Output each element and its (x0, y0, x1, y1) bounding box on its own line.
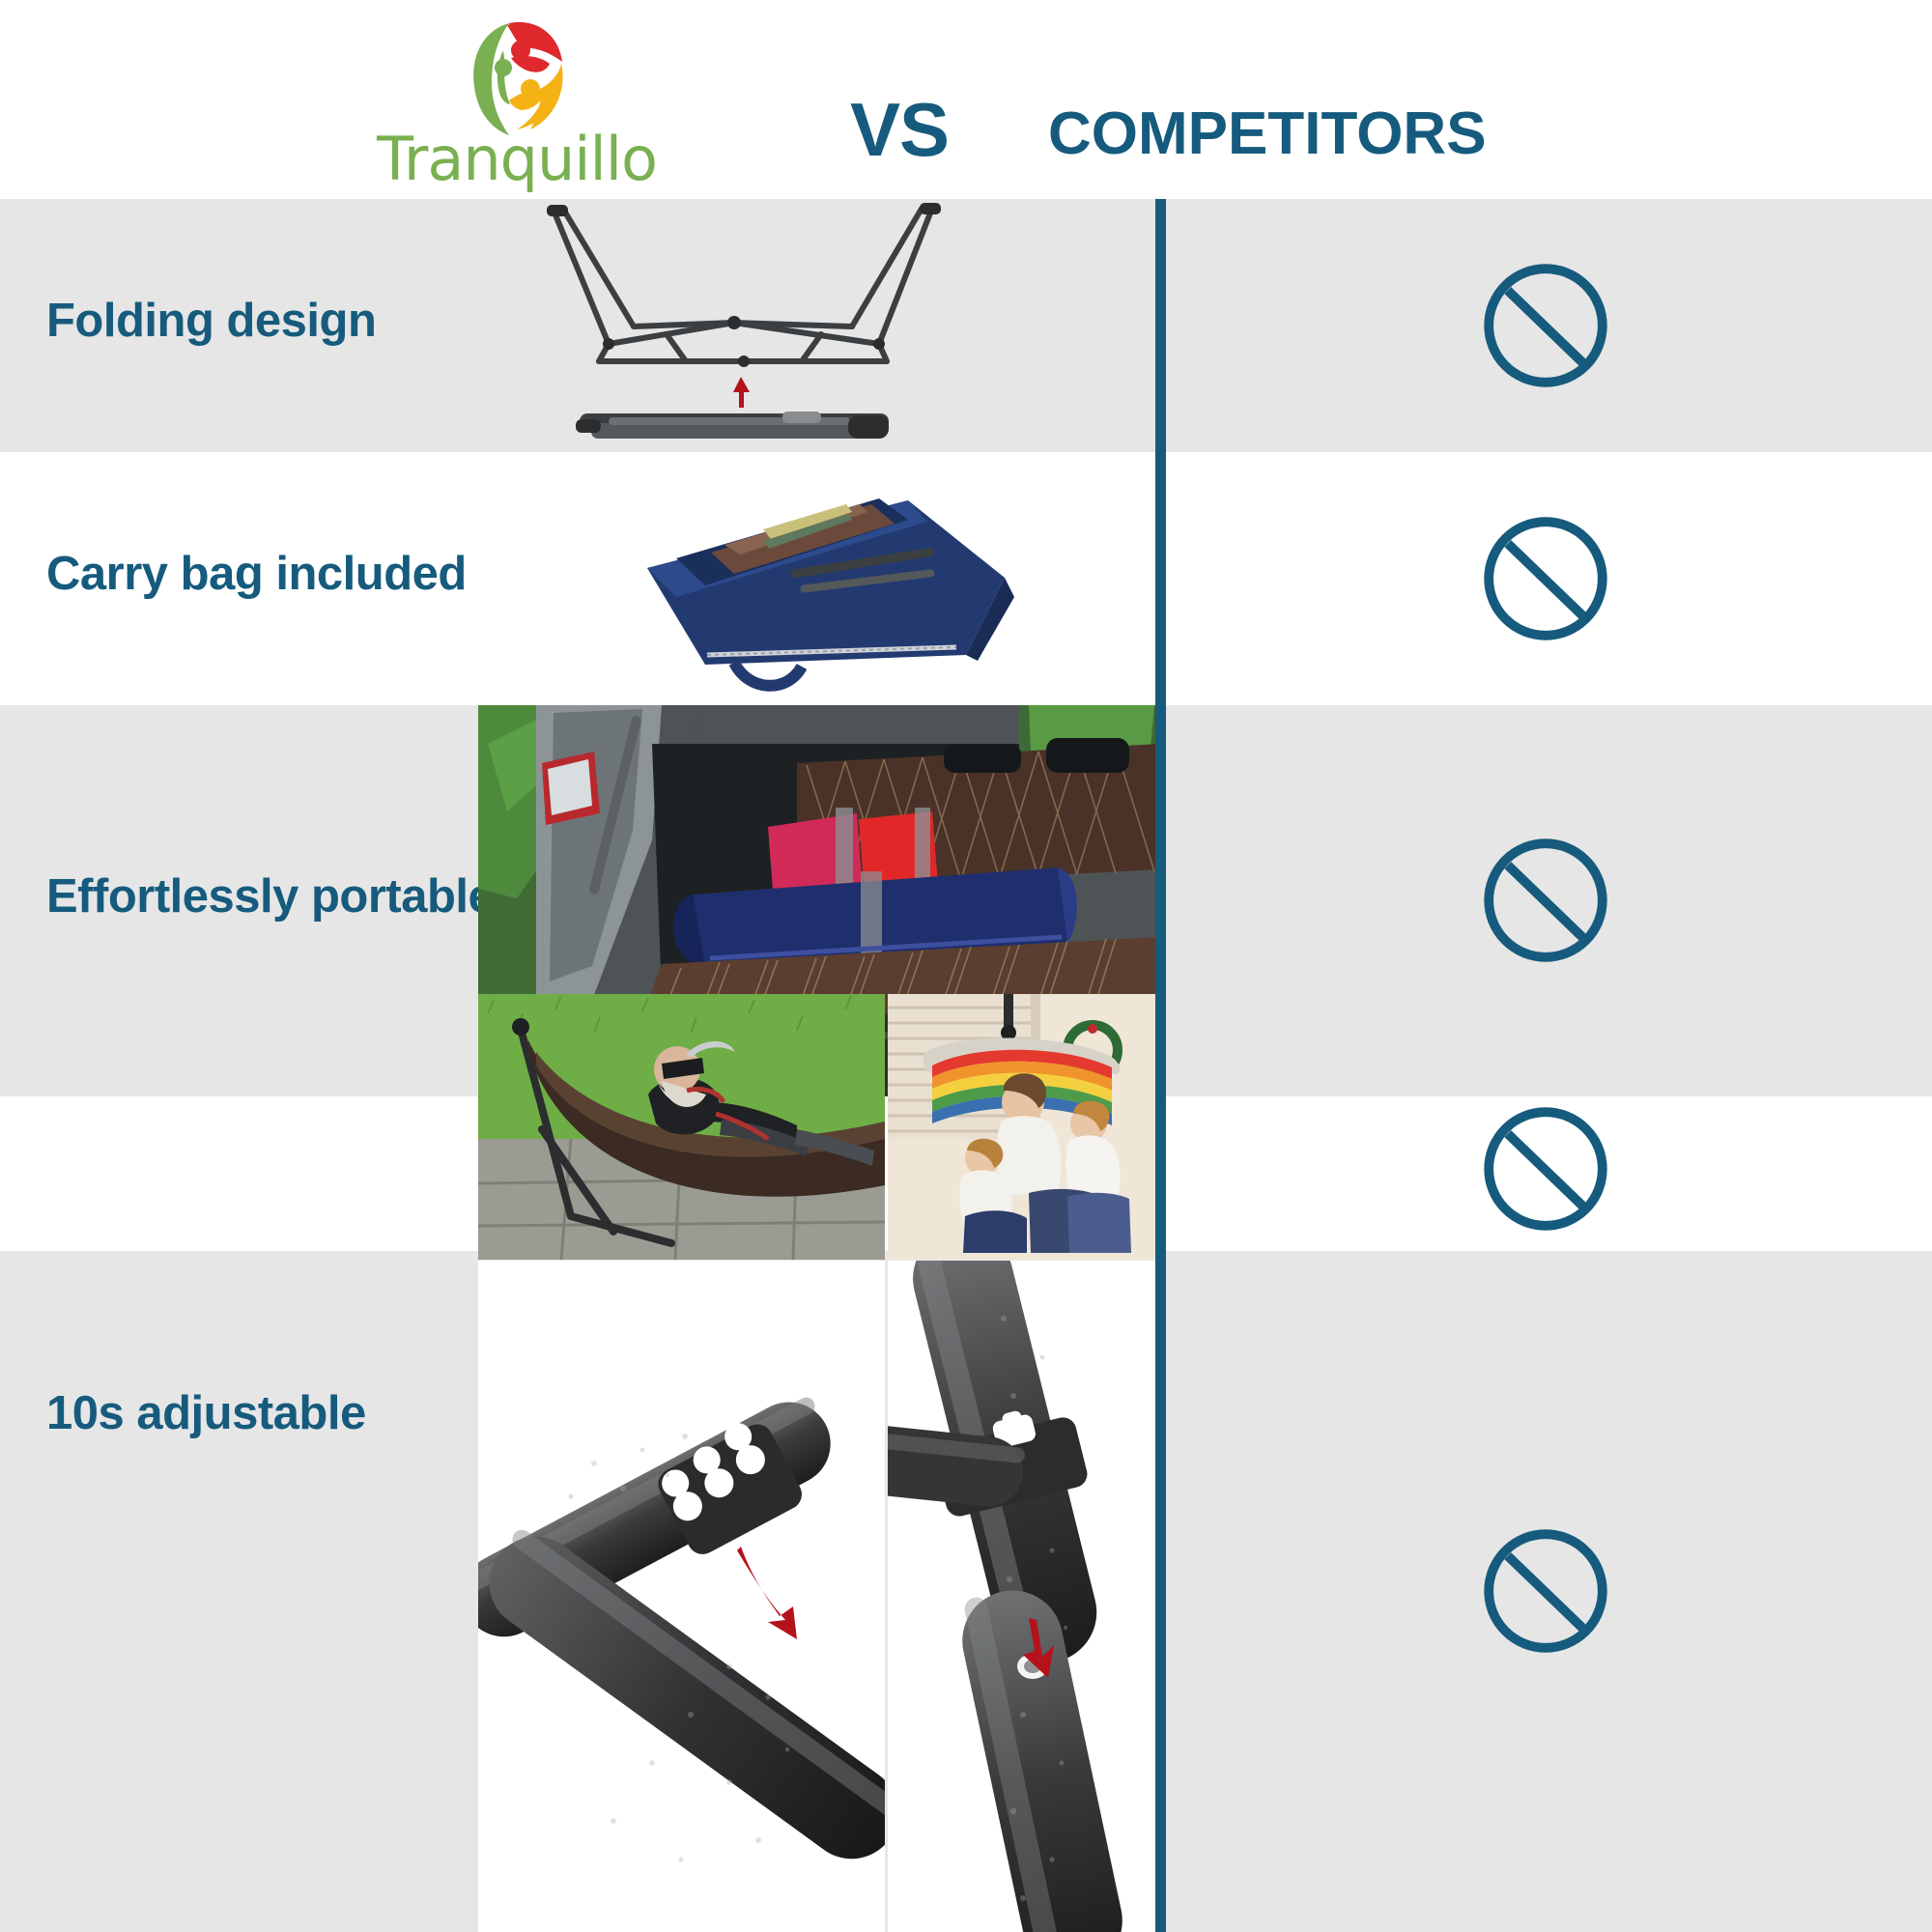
folding-hammock-stand-photo (541, 199, 947, 452)
man-in-hammock-on-lawn-photo (478, 994, 885, 1260)
row-label-folding-design: Folding design (46, 294, 376, 348)
three-figures-circle-logo-icon (449, 8, 584, 143)
competitor-mark-cell (1478, 1523, 1613, 1659)
brand-logo: Tranquillo (357, 8, 676, 201)
table-row: Carry bag included (0, 452, 1932, 705)
competitor-mark-cell (1478, 833, 1613, 968)
row-label-effortlessly-portable: Effortlessly portable (46, 869, 494, 923)
prohibition-icon (1478, 1523, 1613, 1659)
column-divider (1155, 199, 1166, 1932)
prohibition-icon (1478, 258, 1613, 393)
tube-locking-pin-photo (888, 1261, 1160, 1932)
family-in-hammock-indoors-photo (888, 994, 1160, 1260)
table-row: Folding design (0, 199, 1932, 452)
prohibition-icon (1478, 511, 1613, 646)
competitor-mark-cell (1478, 258, 1613, 393)
competitor-mark-cell (1478, 511, 1613, 646)
header: Tranquillo VS COMPETITORS (0, 0, 1932, 203)
prohibition-icon (1478, 1101, 1613, 1236)
row-label-carry-bag-included: Carry bag included (46, 547, 467, 601)
tube-adjustment-holes-photo (478, 1261, 885, 1932)
prohibition-icon (1478, 833, 1613, 968)
row-label-10s-adjustable: 10s adjustable (46, 1386, 366, 1440)
competitor-mark-cell (1478, 1101, 1613, 1236)
competitors-label: COMPETITORS (1048, 104, 1487, 164)
navy-carry-bag-photo (618, 462, 1024, 703)
vs-label: VS (850, 92, 949, 167)
comparison-infographic: Tranquillo VS COMPETITORS Folding design (0, 0, 1932, 1932)
